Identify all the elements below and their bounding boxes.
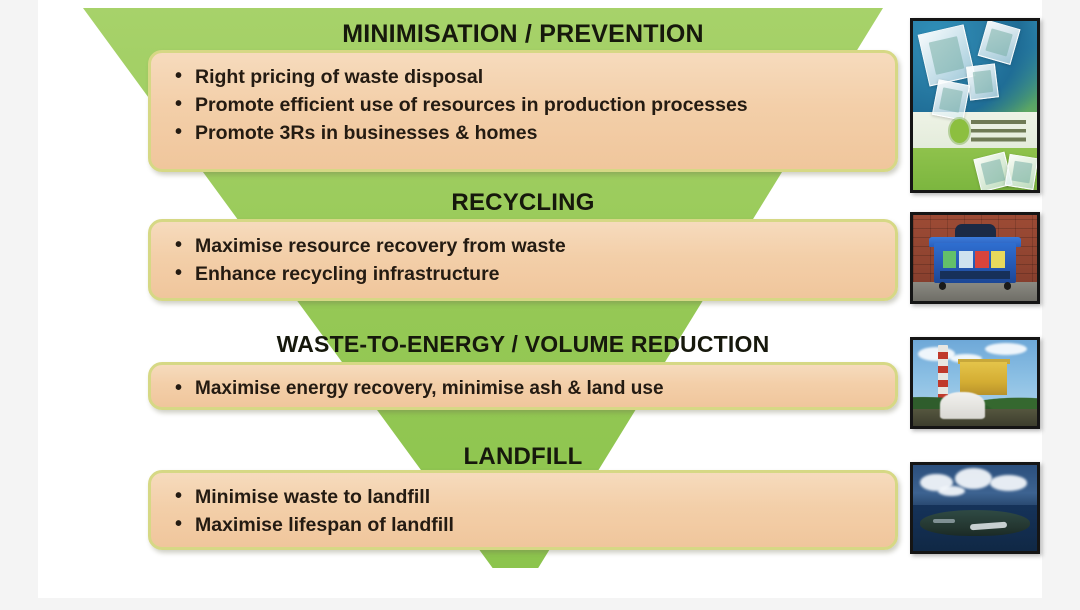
packaging-agreement-logo-icon <box>950 119 969 143</box>
tier-box-minimisation: Right pricing of waste disposal Promote … <box>148 50 898 172</box>
tier-bullets-recycling: Maximise resource recovery from waste En… <box>173 232 877 288</box>
recycling-bin-image <box>913 215 1037 301</box>
foreground-structure <box>940 392 985 420</box>
bin-label-green <box>943 251 957 268</box>
thumbnail-landfill-island <box>910 462 1040 554</box>
tier-bullets-waste-to-energy: Maximise energy recovery, minimise ash &… <box>173 375 877 403</box>
list-item: Maximise resource recovery from waste <box>173 232 877 260</box>
thumbnail-recycling-bin <box>910 212 1040 304</box>
list-item: Right pricing of waste disposal <box>173 63 877 91</box>
package-box-icon <box>1005 154 1037 190</box>
poster-caption-lines <box>971 117 1026 144</box>
bin-deposit-slots <box>940 271 1009 279</box>
tier-box-recycling: Maximise resource recovery from waste En… <box>148 219 898 301</box>
tier-box-waste-to-energy: Maximise energy recovery, minimise ash &… <box>148 362 898 410</box>
incineration-plant-image <box>913 340 1037 426</box>
tier-heading-minimisation: MINIMISATION / PREVENTION <box>148 20 898 49</box>
landfill-island-image <box>913 465 1037 551</box>
island-landmass <box>920 510 1029 536</box>
cloud-shape <box>938 486 965 496</box>
tier-box-landfill: Minimise waste to landfill Maximise life… <box>148 470 898 550</box>
diagram-canvas: MINIMISATION / PREVENTION Right pricing … <box>38 0 1042 598</box>
list-item: Promote efficient use of resources in pr… <box>173 91 877 119</box>
slide-root: MINIMISATION / PREVENTION Right pricing … <box>0 0 1080 610</box>
bin-label-red <box>975 251 989 268</box>
bin-label-yellow <box>991 251 1005 268</box>
list-item: Maximise lifespan of landfill <box>173 511 877 539</box>
list-item: Maximise energy recovery, minimise ash &… <box>173 375 877 403</box>
tier-bullets-landfill: Minimise waste to landfill Maximise life… <box>173 483 877 539</box>
packaging-poster-image <box>913 21 1037 190</box>
tier-bullets-minimisation: Right pricing of waste disposal Promote … <box>173 63 877 147</box>
tier-heading-landfill: LANDFILL <box>148 443 898 471</box>
bin-label-blue <box>959 251 973 268</box>
tier-heading-recycling: RECYCLING <box>148 189 898 217</box>
list-item: Minimise waste to landfill <box>173 483 877 511</box>
thumbnail-packaging-agreement-poster <box>910 18 1040 193</box>
package-box-icon <box>966 63 999 100</box>
list-item: Enhance recycling infrastructure <box>173 260 877 288</box>
bin-wheel <box>1004 282 1011 290</box>
cloud-shape <box>990 475 1027 490</box>
list-item: Promote 3Rs in businesses & homes <box>173 119 877 147</box>
pavement-ground <box>913 282 1037 301</box>
island-structure <box>933 519 955 522</box>
thumbnail-incineration-plant <box>910 337 1040 429</box>
tier-heading-waste-to-energy: WASTE-TO-ENERGY / VOLUME REDUCTION <box>148 331 898 358</box>
